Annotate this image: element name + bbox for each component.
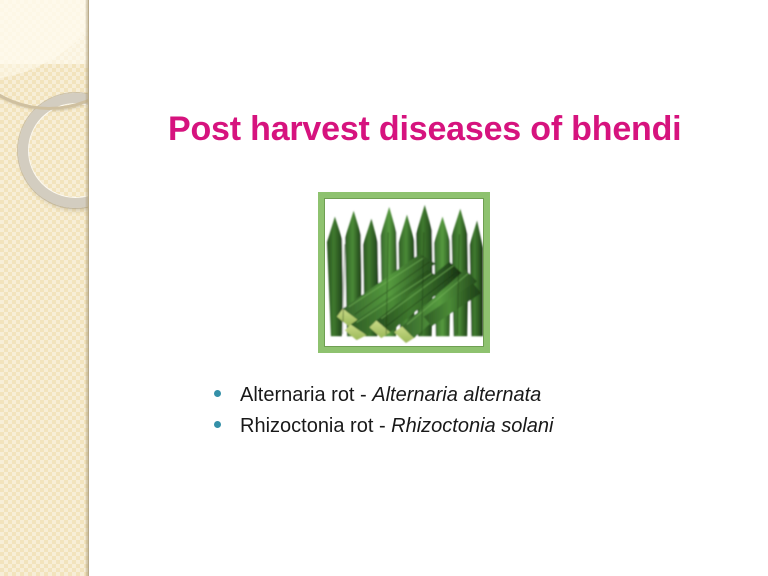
bullet-dot-icon <box>214 390 221 397</box>
list-item: Rhizoctonia rot - Rhizoctonia solani <box>214 411 694 442</box>
pathogen-name: Alternaria alternata <box>372 384 541 406</box>
thin-ring-decoration-icon <box>0 0 89 110</box>
decorative-sidebar <box>0 0 89 576</box>
thin-ring-overlap-decoration-icon <box>0 0 89 110</box>
bullet-dot-icon <box>214 421 221 428</box>
disease-name: Alternaria rot - <box>240 384 372 406</box>
pathogen-name: Rhizoctonia solani <box>391 415 553 437</box>
okra-bhendi-photo <box>325 199 483 346</box>
sidebar-light-lobe <box>0 0 89 80</box>
picture-inner <box>324 198 484 347</box>
disease-name: Rhizoctonia rot - <box>240 415 391 437</box>
thick-ring-decoration-icon <box>18 93 89 208</box>
bullet-text: Rhizoctonia rot - Rhizoctonia solani <box>240 411 554 442</box>
slide-title: Post harvest diseases of bhendi <box>168 108 728 150</box>
picture-frame <box>318 192 490 353</box>
list-item: Alternaria rot - Alternaria alternata <box>214 380 694 411</box>
bullet-list: Alternaria rot - Alternaria alternata Rh… <box>214 380 694 442</box>
presentation-slide: Post harvest diseases of bhendi <box>0 0 768 576</box>
bullet-text: Alternaria rot - Alternaria alternata <box>240 380 541 411</box>
sidebar-light-wedge <box>0 0 89 64</box>
